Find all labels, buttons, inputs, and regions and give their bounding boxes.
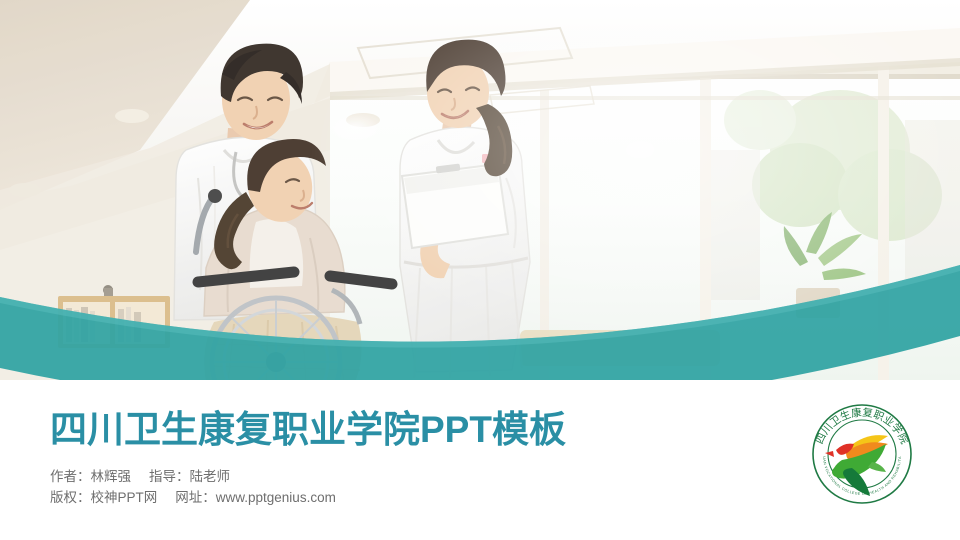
author-value: 林辉强 bbox=[91, 469, 132, 484]
college-logo-seal: 四川卫生康复职业学院 SICHUAN VOCATIONAL COLLEGE OF… bbox=[806, 398, 918, 510]
presentation-slide: 四川卫生康复职业学院PPT模板 作者：林辉强指导：陆老师 版权：校神PPT网网址… bbox=[0, 0, 960, 540]
copyright-value: 校神PPT网 bbox=[91, 490, 158, 505]
hero-photo-illustration bbox=[0, 0, 960, 380]
website-value[interactable]: www.pptgenius.com bbox=[216, 490, 336, 505]
college-logo: 四川卫生康复职业学院 SICHUAN VOCATIONAL COLLEGE OF… bbox=[806, 398, 918, 510]
advisor-label: 指导： bbox=[149, 469, 190, 484]
copyright-label: 版权： bbox=[50, 490, 91, 505]
meta-line-author: 作者：林辉强指导：陆老师 bbox=[50, 466, 750, 487]
author-label: 作者： bbox=[50, 469, 91, 484]
meta-lines: 作者：林辉强指导：陆老师 版权：校神PPT网网址：www.pptgenius.c… bbox=[50, 466, 750, 508]
website-label: 网址： bbox=[175, 490, 216, 505]
title-block: 四川卫生康复职业学院PPT模板 作者：林辉强指导：陆老师 版权：校神PPT网网址… bbox=[50, 408, 750, 508]
page-title: 四川卫生康复职业学院PPT模板 bbox=[50, 408, 750, 452]
hero-photo bbox=[0, 0, 960, 380]
advisor-value: 陆老师 bbox=[190, 469, 231, 484]
meta-line-copyright: 版权：校神PPT网网址：www.pptgenius.com bbox=[50, 487, 750, 508]
